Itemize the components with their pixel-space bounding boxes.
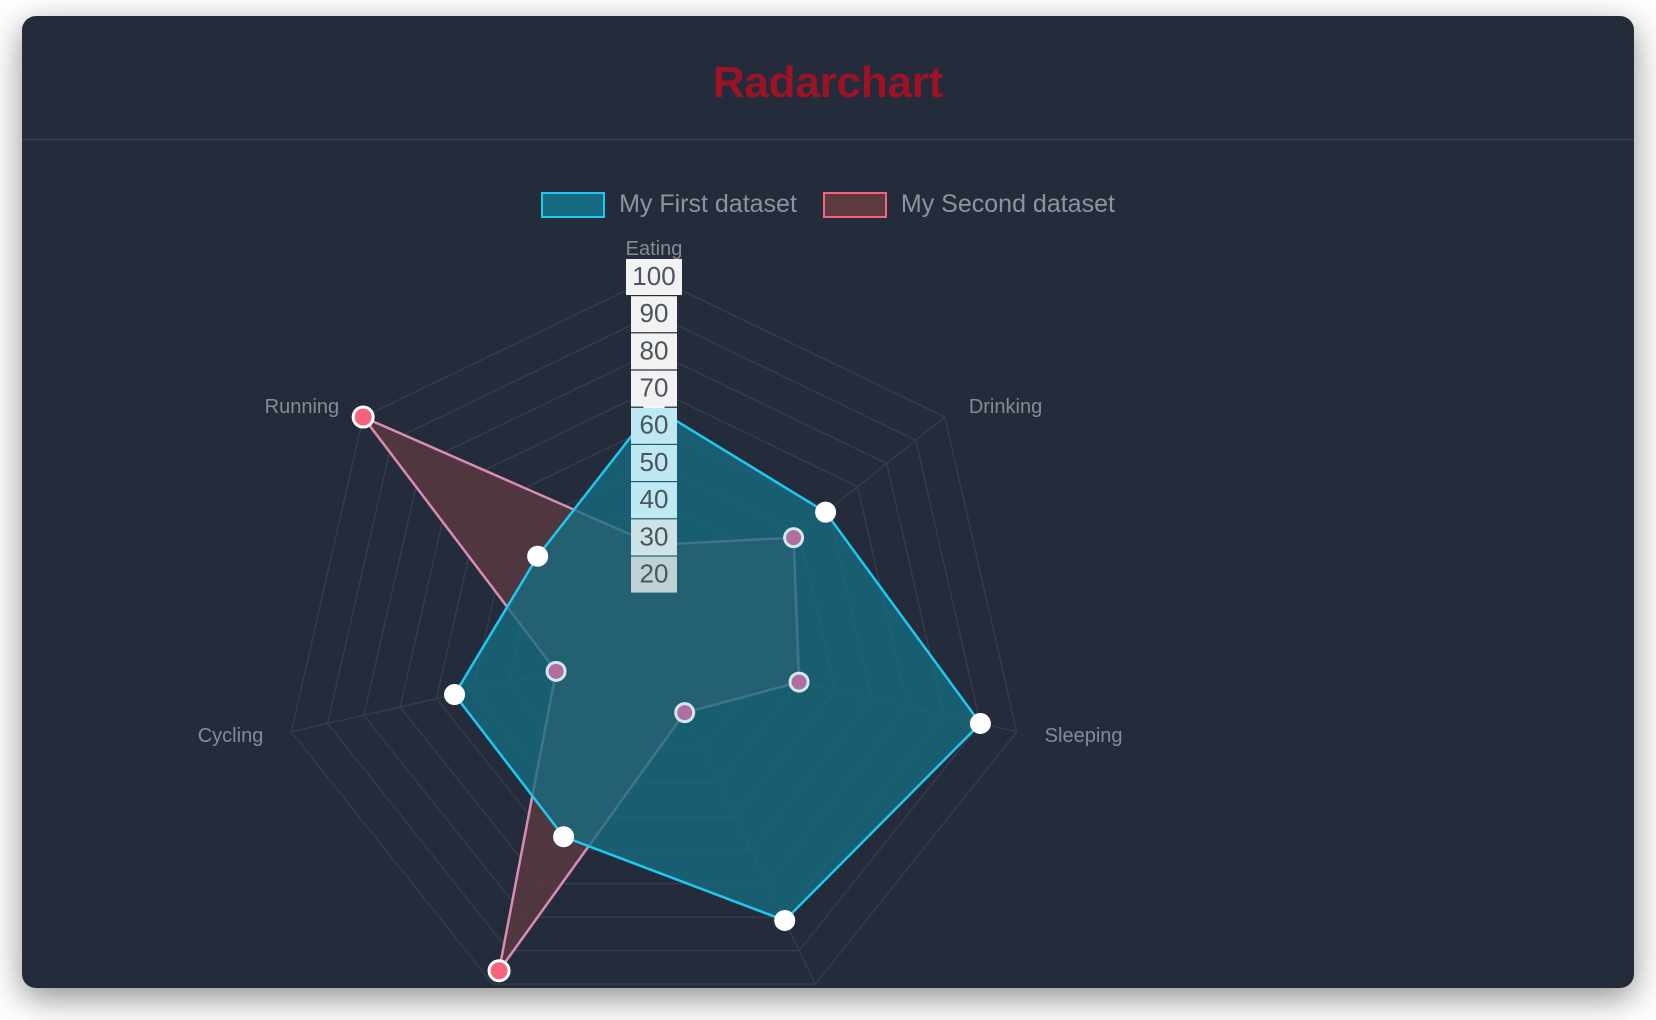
chart-window: Radarchart My First dataset My Second da…: [22, 16, 1634, 988]
radar-svg: EatingDrinkingSleepingDesigningCodingCyc…: [22, 140, 1634, 988]
svg-text:Drinking: Drinking: [969, 396, 1042, 418]
svg-text:40: 40: [640, 484, 669, 514]
svg-text:Sleeping: Sleeping: [1045, 725, 1123, 747]
svg-text:100: 100: [632, 261, 675, 291]
page-title: Radarchart: [22, 58, 1634, 108]
svg-text:30: 30: [640, 521, 669, 551]
svg-text:90: 90: [640, 298, 669, 328]
svg-text:20: 20: [640, 558, 669, 588]
svg-text:60: 60: [640, 410, 669, 440]
svg-text:80: 80: [640, 335, 669, 365]
radar-chart[interactable]: EatingDrinkingSleepingDesigningCodingCyc…: [22, 140, 1634, 988]
svg-text:Eating: Eating: [626, 238, 683, 260]
svg-text:50: 50: [640, 447, 669, 477]
svg-text:Running: Running: [265, 396, 340, 418]
radar-tick-labels: 2030405060708090100: [626, 259, 682, 593]
chart-canvas-area: My First dataset My Second dataset Eatin…: [22, 140, 1634, 988]
title-bar: Radarchart: [22, 16, 1634, 140]
svg-text:70: 70: [640, 372, 669, 402]
svg-text:Cycling: Cycling: [198, 725, 264, 747]
